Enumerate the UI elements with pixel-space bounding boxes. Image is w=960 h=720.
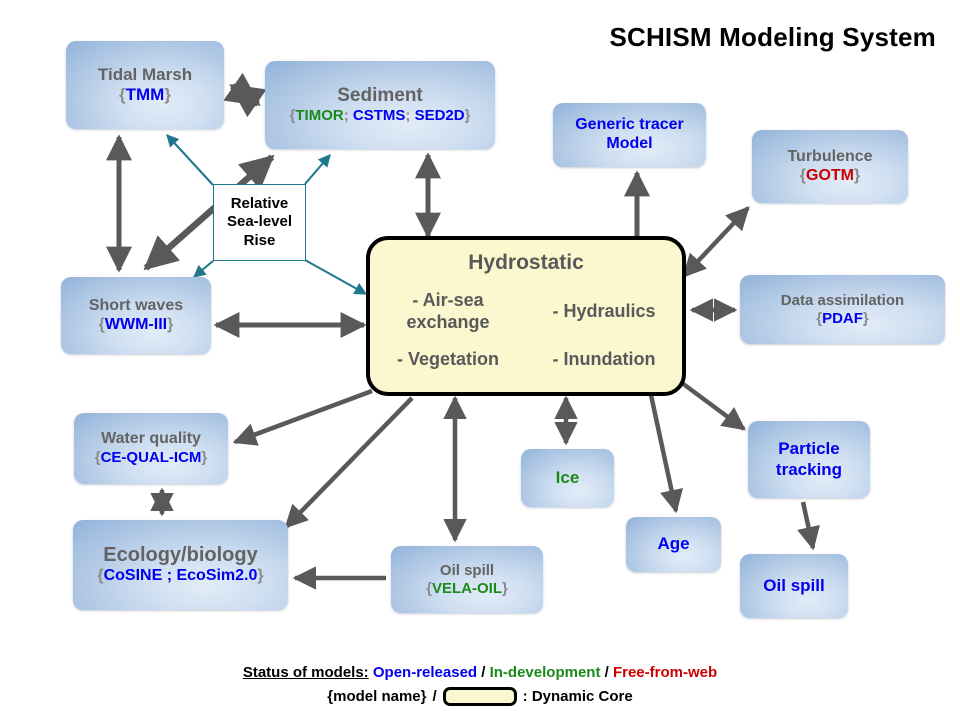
model-name-particle-tracking-0: Particle tracking	[776, 439, 842, 478]
module-title-short-waves: Short waves	[89, 297, 183, 316]
rslr-label: Relative Sea-level Rise	[214, 195, 305, 250]
module-models-ice: Ice	[556, 468, 580, 488]
module-models-tidal-marsh: {TMM}	[119, 85, 171, 105]
core-feature-inundation: - Inundation	[526, 349, 682, 371]
legend-dynamic-core-swatch	[443, 687, 517, 706]
arrow-rslr-tidalmarsh	[167, 135, 213, 185]
module-models-water-quality: {CE-QUAL-ICM}	[95, 449, 208, 467]
legend-slash-3: /	[432, 688, 436, 705]
module-models-ecology-biology: {CoSINE ; EcoSim2.0}	[97, 567, 263, 586]
legend-model-name: {model name}	[327, 688, 426, 705]
arrow-rslr-shortwaves	[194, 261, 213, 277]
module-models-generic-tracer: Generic tracer Model	[553, 116, 706, 154]
arrow-core-waterquality	[235, 391, 372, 442]
core-title: Hydrostatic	[370, 251, 682, 275]
module-title-turbulence: Turbulence	[787, 148, 872, 167]
legend-status-label: Status of models:	[243, 664, 369, 681]
module-box-turbulence[interactable]: Turbulence{GOTM}	[752, 130, 908, 203]
legend-slash-1: /	[481, 664, 485, 681]
module-box-tidal-marsh[interactable]: Tidal Marsh{TMM}	[66, 41, 224, 129]
core-feature-vegetation: - Vegetation	[370, 349, 526, 371]
arrow-core-age	[651, 395, 676, 511]
module-box-short-waves[interactable]: Short waves{WWM-III}	[61, 277, 211, 354]
module-models-data-assimilation: {PDAF}	[816, 310, 869, 328]
model-name-sediment-0: TIMOR	[295, 107, 343, 124]
module-models-particle-tracking: Particle tracking	[748, 439, 870, 479]
module-box-ice[interactable]: Ice	[521, 449, 614, 507]
module-models-short-waves: {WWM-III}	[99, 316, 174, 335]
model-name-age-0: Age	[657, 534, 689, 553]
arrow-rslr-core	[305, 260, 366, 294]
arrow-core-particletracking	[682, 383, 744, 429]
model-name-generic-tracer-0: Generic tracer Model	[575, 116, 684, 152]
arrow-core-turbulence	[684, 208, 748, 276]
dynamic-core-hydrostatic[interactable]: Hydrostatic - Air-sea exchange - Hydraul…	[366, 236, 686, 396]
module-title-ecology-biology: Ecology/biology	[103, 544, 257, 568]
model-name-sediment-1: CSTMS	[353, 107, 406, 124]
legend-slash-2: /	[605, 664, 609, 681]
module-models-sediment: {TIMOR; CSTMS; SED2D}	[290, 107, 471, 125]
arrow-rslr-sediment	[305, 155, 330, 184]
legend: Status of models: Open-released / In-dev…	[0, 664, 960, 706]
legend-in-development: In-development	[490, 664, 601, 681]
module-title-tidal-marsh: Tidal Marsh	[98, 65, 192, 85]
model-name-turbulence-0: GOTM	[806, 167, 854, 184]
module-models-turbulence: {GOTM}	[800, 167, 860, 186]
core-feature-hydraulics: - Hydraulics	[526, 301, 682, 323]
module-title-oil-spill-vela: Oil spill	[440, 562, 494, 580]
model-name-ice-0: Ice	[556, 468, 580, 487]
module-models-age: Age	[657, 534, 689, 554]
core-feature-air-sea-exchange: - Air-sea exchange	[370, 290, 526, 333]
module-box-water-quality[interactable]: Water quality{CE-QUAL-ICM}	[74, 413, 228, 484]
model-name-water-quality-0: CE-QUAL-ICM	[101, 449, 202, 466]
model-name-oil-spill-vela-0: VELA-OIL	[432, 580, 502, 597]
arrow-tidalmarsh-sediment	[232, 86, 258, 104]
module-models-oil-spill-right: Oil spill	[763, 576, 824, 596]
module-box-ecology-biology[interactable]: Ecology/biology{CoSINE ; EcoSim2.0}	[73, 520, 288, 610]
module-box-data-assimilation[interactable]: Data assimilation{PDAF}	[740, 275, 945, 344]
legend-dynamic-core-label: : Dynamic Core	[523, 688, 633, 705]
model-name-sediment-2: SED2D	[415, 107, 465, 124]
page-title: SCHISM Modeling System	[609, 22, 936, 53]
model-name-tidal-marsh-0: TMM	[126, 85, 165, 104]
relative-sea-level-rise-box[interactable]: Relative Sea-level Rise	[213, 184, 306, 261]
model-name-ecology-biology-0: CoSINE ; EcoSim2.0	[104, 567, 258, 584]
arrow-particletracking-oilspill	[803, 502, 813, 548]
module-title-sediment: Sediment	[337, 85, 423, 107]
legend-status-line: Status of models: Open-released / In-dev…	[0, 664, 960, 681]
module-box-particle-tracking[interactable]: Particle tracking	[748, 421, 870, 498]
module-title-data-assimilation: Data assimilation	[781, 292, 904, 310]
core-feature-grid: - Air-sea exchange - Hydraulics - Vegeta…	[370, 288, 682, 384]
model-name-oil-spill-right-0: Oil spill	[763, 576, 824, 595]
module-title-water-quality: Water quality	[101, 430, 201, 449]
module-box-oil-spill-vela[interactable]: Oil spill{VELA-OIL}	[391, 546, 543, 613]
module-box-generic-tracer[interactable]: Generic tracer Model	[553, 103, 706, 167]
legend-core-line: {model name} / : Dynamic Core	[0, 687, 960, 706]
legend-open-released: Open-released	[373, 664, 477, 681]
module-box-age[interactable]: Age	[626, 517, 721, 572]
model-name-short-waves-0: WWM-III	[105, 316, 167, 333]
legend-free-from-web: Free-from-web	[613, 664, 717, 681]
module-box-oil-spill-right[interactable]: Oil spill	[740, 554, 848, 618]
module-models-oil-spill-vela: {VELA-OIL}	[426, 580, 508, 598]
module-box-sediment[interactable]: Sediment{TIMOR; CSTMS; SED2D}	[265, 61, 495, 149]
diagram-canvas: SCHISM Modeling System Hydrostatic - Air…	[0, 0, 960, 720]
model-name-data-assimilation-0: PDAF	[822, 310, 863, 327]
